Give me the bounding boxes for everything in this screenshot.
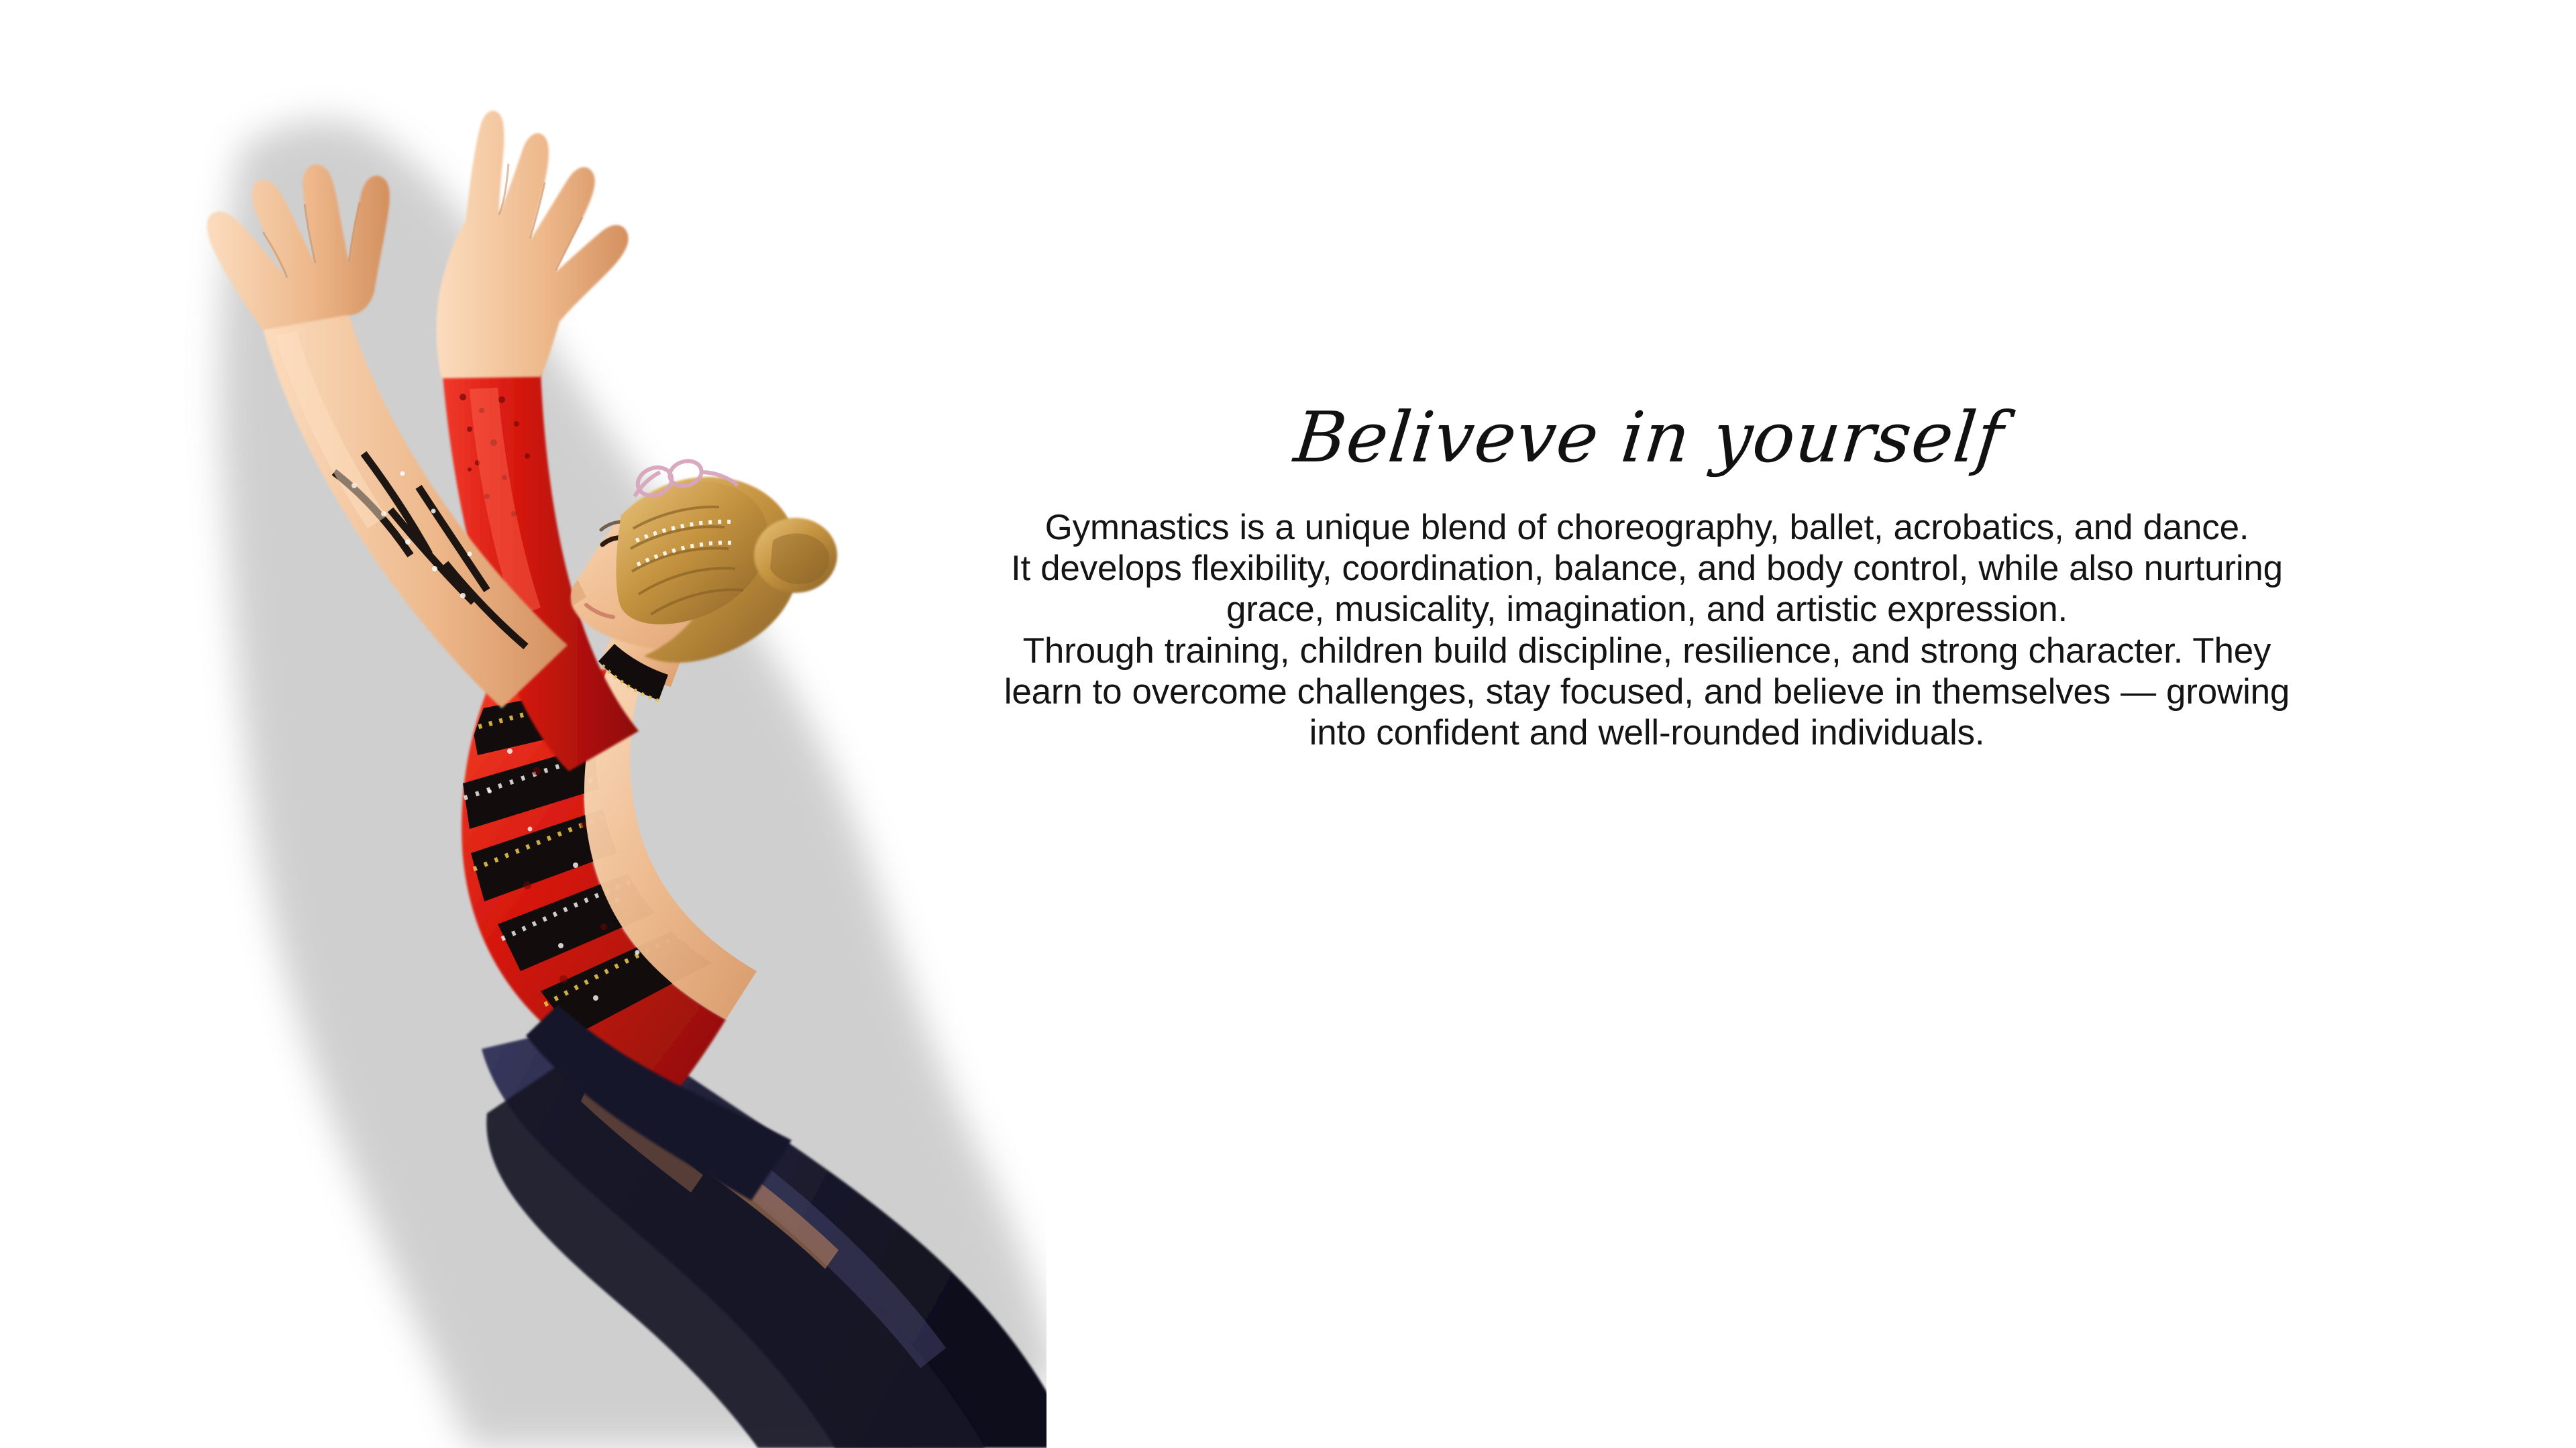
headline-script-svg: Beliveve in yourself — [1345, 376, 1949, 503]
gymnast-figure-svg — [0, 0, 1046, 1448]
headline-text: Beliveve in yourself — [1289, 396, 2018, 478]
slide-canvas: Beliveve in yourself Gymnastics is a uni… — [0, 0, 2576, 1448]
paragraph-2: It develops flexibility, coordination, b… — [1000, 548, 2294, 630]
text-content-block: Beliveve in yourself Gymnastics is a uni… — [1000, 376, 2294, 753]
body-copy: Gymnastics is a unique blend of choreogr… — [1000, 507, 2294, 753]
paragraph-3: Through training, children build discipl… — [1000, 630, 2294, 754]
gymnast-right-hand — [436, 111, 628, 378]
headline-script: Beliveve in yourself — [1000, 376, 2294, 503]
paragraph-1: Gymnastics is a unique blend of choreogr… — [1000, 507, 2294, 548]
gymnast-illustration — [0, 0, 1046, 1448]
